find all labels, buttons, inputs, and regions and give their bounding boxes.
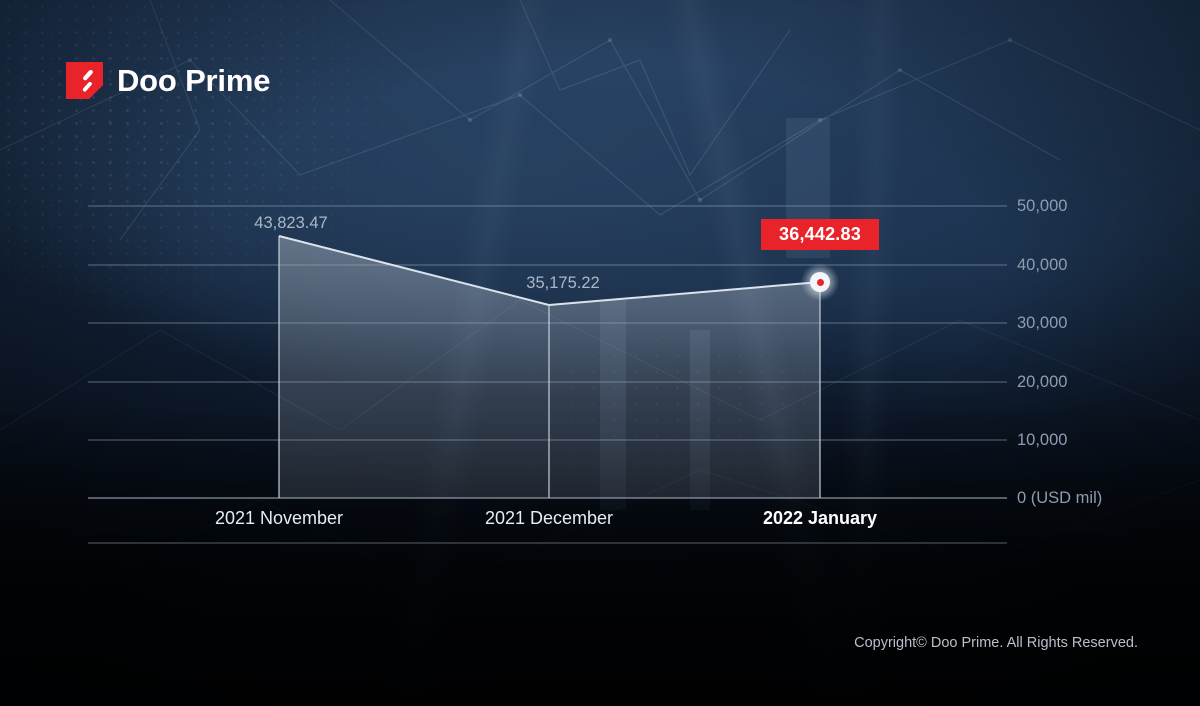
data-label-2021-november: 43,823.47 xyxy=(254,215,327,232)
doo-prime-mark-icon xyxy=(66,62,103,99)
volume-area-chart xyxy=(0,0,1200,706)
x-axis-label-2022-january: 2022 January xyxy=(763,509,877,527)
y-axis-label-40000: 40,000 xyxy=(1017,257,1067,274)
highlight-value-badge: 36,442.83 xyxy=(761,219,879,250)
y-axis-label-10000: 10,000 xyxy=(1017,432,1067,449)
y-axis-label-30000: 30,000 xyxy=(1017,315,1067,332)
brand-logo: Doo Prime xyxy=(66,62,270,99)
marker-core-icon xyxy=(817,279,824,286)
y-axis-label-zero-unit: 0 (USD mil) xyxy=(1017,490,1102,507)
x-axis-label-2021-december: 2021 December xyxy=(485,509,613,527)
copyright-text: Copyright© Doo Prime. All Rights Reserve… xyxy=(854,636,1138,651)
y-axis-label-50000: 50,000 xyxy=(1017,198,1067,215)
brand-wordmark: Doo Prime xyxy=(117,65,270,96)
infographic-canvas: Doo Prime xyxy=(0,0,1200,706)
y-axis-label-20000: 20,000 xyxy=(1017,374,1067,391)
x-axis-label-2021-november: 2021 November xyxy=(215,509,343,527)
data-label-2021-december: 35,175.22 xyxy=(526,275,599,292)
